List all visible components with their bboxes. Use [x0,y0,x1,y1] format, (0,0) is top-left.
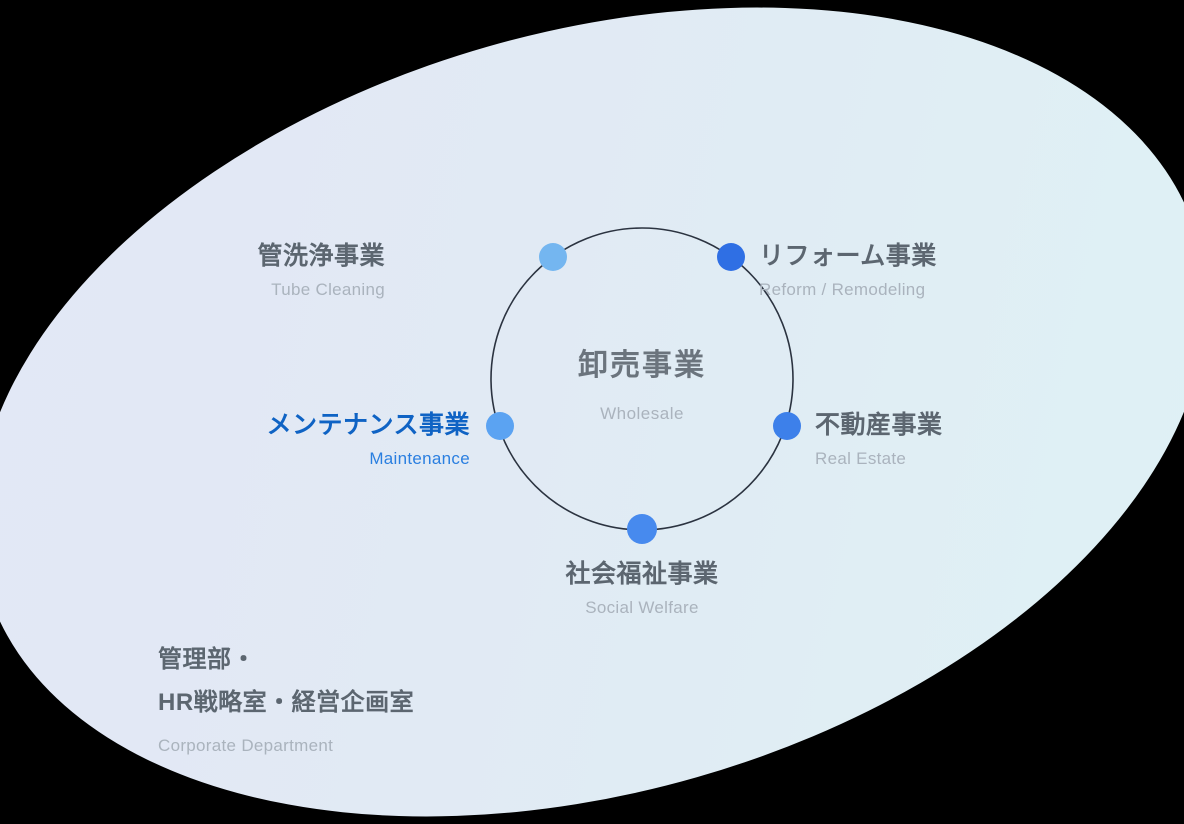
node-label-social-welfare-en: Social Welfare [565,598,718,618]
node-label-tube-cleaning-en: Tube Cleaning [140,280,385,300]
node-label-real-estate-ja: 不動産事業 [815,411,943,440]
node-label-social-welfare[interactable]: 社会福祉事業 Social Welfare [565,560,718,618]
node-dot-tube-cleaning[interactable] [539,243,567,271]
node-label-tube-cleaning-ja: 管洗浄事業 [140,242,385,271]
corporate-department-ja-line1: 管理部・ [158,639,414,682]
node-label-real-estate[interactable]: 不動産事業 Real Estate [815,411,943,469]
node-label-reform-en: Reform / Remodeling [759,280,937,300]
node-label-maintenance-ja: メンテナンス事業 [210,411,470,440]
node-dot-social-welfare[interactable] [627,514,657,544]
node-label-real-estate-en: Real Estate [815,449,943,469]
business-structure-diagram: 卸売事業 Wholesale 管洗浄事業 Tube Cleaning リフォーム… [0,0,1184,824]
node-label-social-welfare-ja: 社会福祉事業 [565,560,718,589]
node-dot-real-estate[interactable] [773,412,801,440]
center-label-ja: 卸売事業 [578,349,706,382]
corporate-department-block: 管理部・ HR戦略室・経営企画室 Corporate Department [158,639,414,756]
diagram-canvas: 卸売事業 Wholesale 管洗浄事業 Tube Cleaning リフォーム… [0,0,1184,824]
node-label-maintenance-en: Maintenance [210,449,470,469]
node-label-reform[interactable]: リフォーム事業 Reform / Remodeling [759,242,937,300]
center-label: 卸売事業 Wholesale [578,349,706,424]
node-label-reform-ja: リフォーム事業 [759,242,937,271]
node-dot-maintenance[interactable] [486,412,514,440]
center-label-en: Wholesale [578,404,706,424]
node-label-tube-cleaning[interactable]: 管洗浄事業 Tube Cleaning [140,242,385,300]
node-label-maintenance[interactable]: メンテナンス事業 Maintenance [210,411,470,469]
corporate-department-ja-line2: HR戦略室・経営企画室 [158,682,414,725]
node-dot-reform[interactable] [717,243,745,271]
corporate-department-en: Corporate Department [158,736,414,756]
